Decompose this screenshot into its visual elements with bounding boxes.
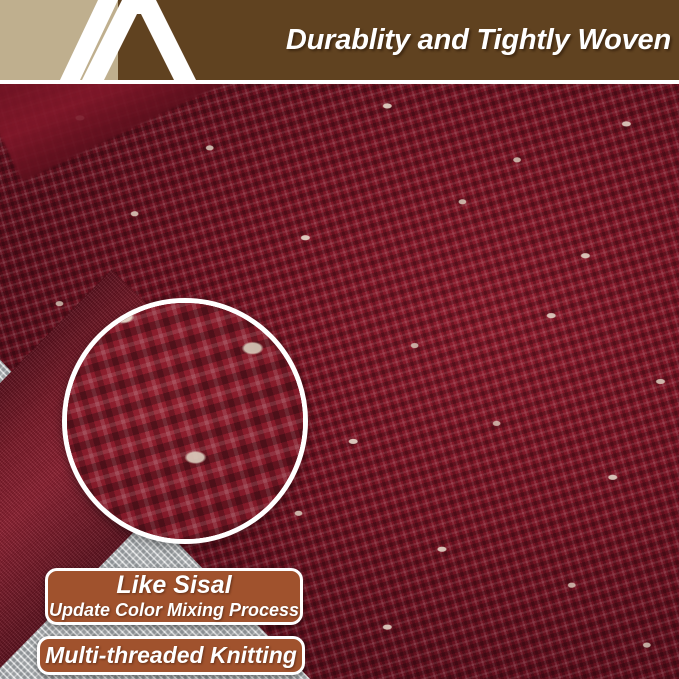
badge-like-sisal-subtitle: Update Color Mixing Process — [49, 601, 299, 621]
badge-like-sisal: Like Sisal Update Color Mixing Process — [45, 568, 303, 625]
badge-multi-threaded-knitting-title: Multi-threaded Knitting — [45, 644, 297, 667]
page-title: Durablity and Tightly Woven — [190, 0, 679, 80]
header-banner: Durablity and Tightly Woven — [0, 0, 679, 80]
product-feature-image: Durablity and Tightly Woven Like Sisal U… — [0, 0, 679, 679]
badge-like-sisal-title: Like Sisal — [116, 572, 231, 598]
zoom-detail-circle — [62, 298, 308, 544]
carpet-photo: Like Sisal Update Color Mixing Process M… — [0, 84, 679, 679]
page-title-text: Durablity and Tightly Woven — [286, 24, 671, 57]
zoom-detail-texture — [62, 298, 308, 544]
badge-multi-threaded-knitting: Multi-threaded Knitting — [37, 636, 305, 675]
